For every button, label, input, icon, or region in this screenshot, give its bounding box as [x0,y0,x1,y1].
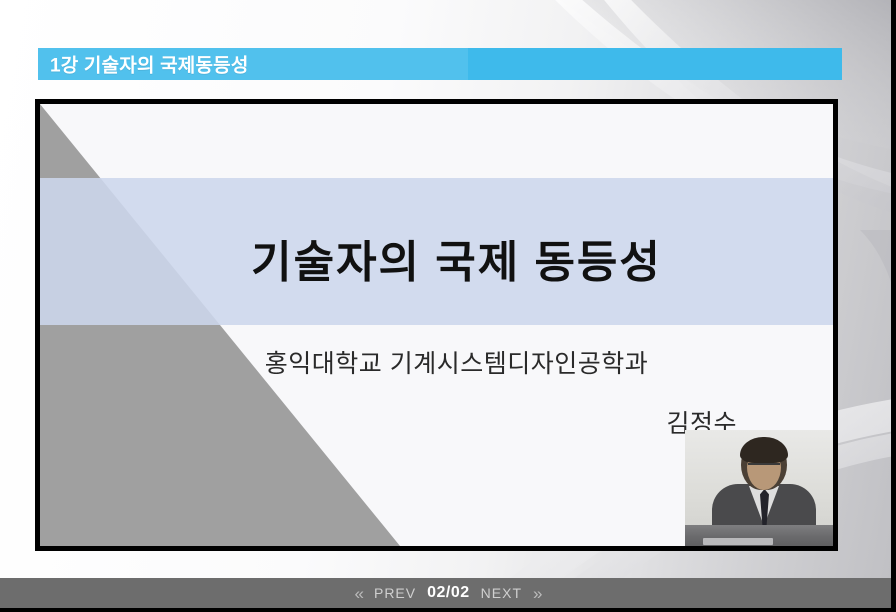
presenter-laptop [703,538,773,545]
slide-subtitle-text: 홍익대학교 기계시스템디자인공학과 [40,344,833,380]
prev-button[interactable]: PREV [374,585,416,601]
slide-decorative-triangle [40,104,400,546]
lecture-header-bar: 1강 기술자의 국제동등성 [38,48,842,80]
slide-counter: 02/02 [427,584,470,602]
next-button[interactable]: NEXT [481,585,522,601]
lecture-title: 1강 기술자의 국제동등성 [50,51,249,78]
lecture-player-viewport: 1강 기술자의 국제동등성 기술자의 국제 동등성 홍익대학교 기계시스템디자인… [0,0,896,612]
right-border-strip [891,0,896,612]
chevron-double-left-icon[interactable]: « [355,585,363,602]
chevron-double-right-icon[interactable]: » [533,585,541,602]
navigation-controls: « PREV 02/02 NEXT » [355,584,542,602]
slide-canvas: 기술자의 국제 동등성 홍익대학교 기계시스템디자인공학과 김정수 [40,104,833,546]
bottom-border-strip [0,608,896,612]
presenter-video-overlay[interactable] [685,430,833,546]
slide-title-text: 기술자의 국제 동등성 [40,226,833,290]
slide-frame[interactable]: 기술자의 국제 동등성 홍익대학교 기계시스템디자인공학과 김정수 [35,99,838,551]
glasses-icon [748,463,780,473]
slide-navigation-bar: « PREV 02/02 NEXT » [0,578,896,608]
